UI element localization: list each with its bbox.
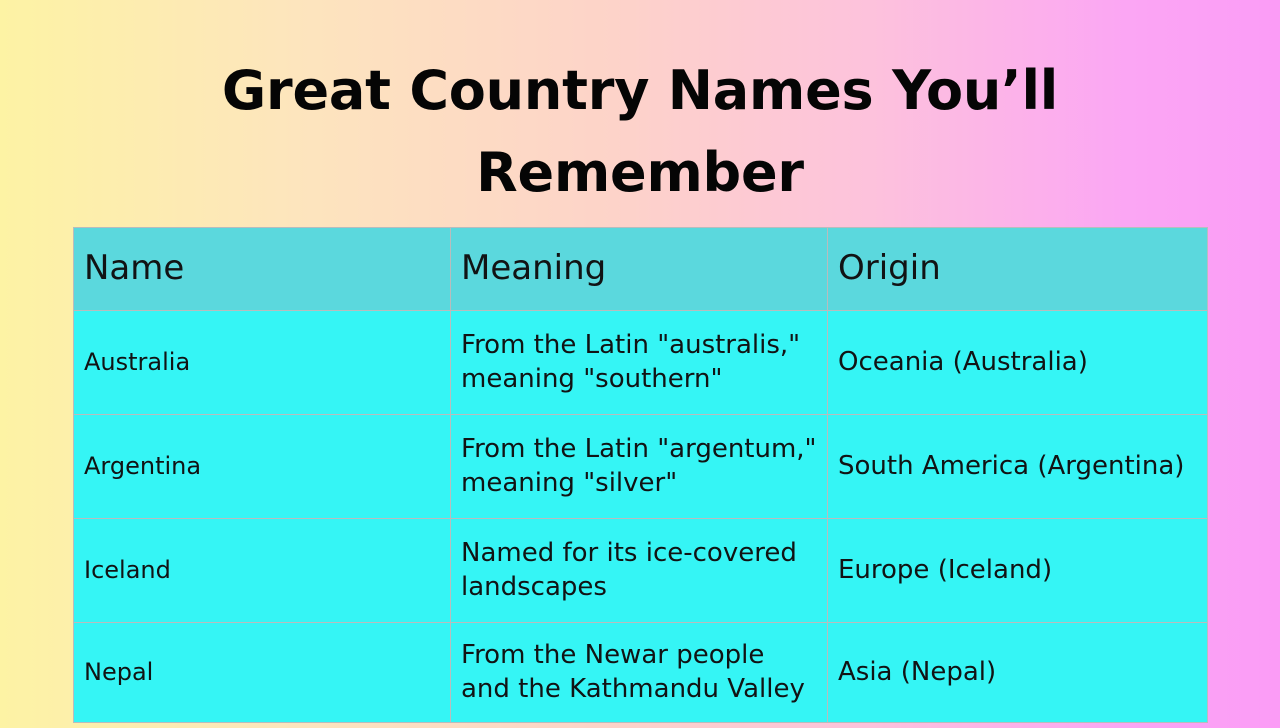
cell-name: Iceland [74,519,451,623]
cell-origin: Asia (Nepal) [828,623,1208,723]
table-header-row: Name Meaning Origin [74,228,1208,311]
table-row: Iceland Named for its ice-covered landsc… [74,519,1208,623]
cell-meaning: From the Newar people and the Kathmandu … [451,623,828,723]
cell-origin: Europe (Iceland) [828,519,1208,623]
cell-meaning: From the Latin "argentum," meaning "silv… [451,415,828,519]
country-names-table-wrapper: Name Meaning Origin Australia From the L… [73,227,1207,723]
table-row: Nepal From the Newar people and the Kath… [74,623,1208,723]
cell-origin: Oceania (Australia) [828,311,1208,415]
table-row: Argentina From the Latin "argentum," mea… [74,415,1208,519]
country-names-table: Name Meaning Origin Australia From the L… [73,227,1208,723]
column-header-name: Name [74,228,451,311]
cell-meaning: Named for its ice-covered landscapes [451,519,828,623]
page-title: Great Country Names You’ll Remember [150,50,1130,214]
column-header-origin: Origin [828,228,1208,311]
column-header-meaning: Meaning [451,228,828,311]
cell-name: Nepal [74,623,451,723]
cell-name: Argentina [74,415,451,519]
cell-origin: South America (Argentina) [828,415,1208,519]
table-header: Name Meaning Origin [74,228,1208,311]
table-body: Australia From the Latin "australis," me… [74,311,1208,723]
cell-name: Australia [74,311,451,415]
cell-meaning: From the Latin "australis," meaning "sou… [451,311,828,415]
table-row: Australia From the Latin "australis," me… [74,311,1208,415]
slide-canvas: Great Country Names You’ll Remember Name… [0,0,1280,728]
